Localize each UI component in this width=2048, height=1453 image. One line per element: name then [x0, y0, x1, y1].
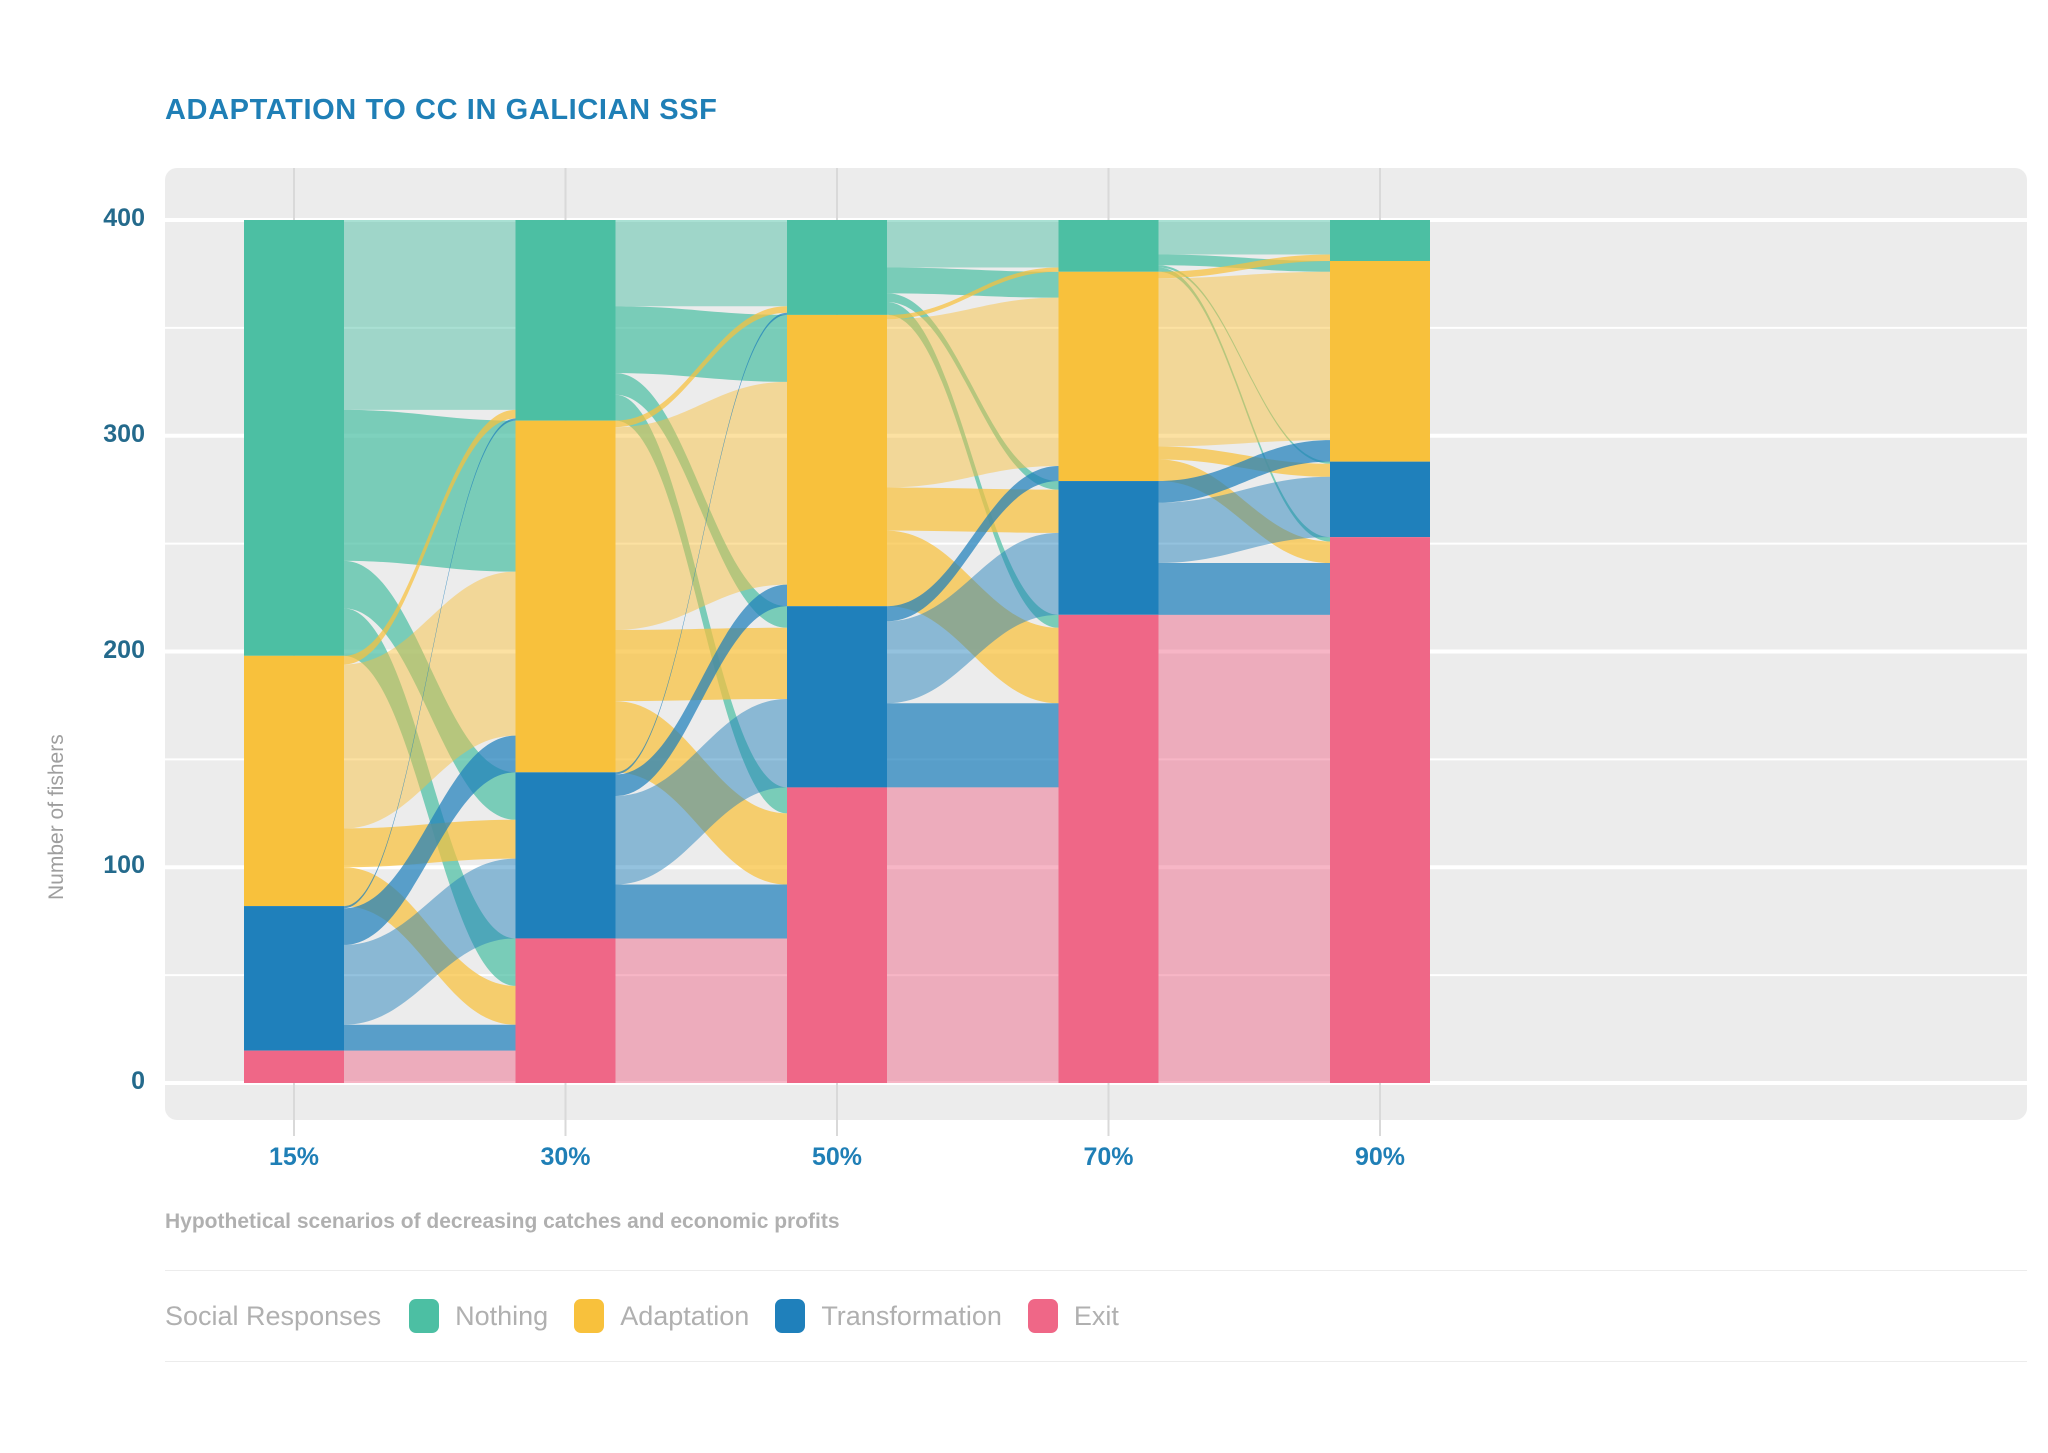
sankey-node[interactable] [516, 421, 616, 773]
sankey-ribbon[interactable] [887, 220, 1059, 267]
x-tick-label: 90% [1310, 1143, 1450, 1172]
sankey-ribbon[interactable] [1159, 563, 1331, 615]
sankey-ribbon[interactable] [887, 298, 1059, 488]
sankey-node[interactable] [1330, 537, 1430, 1083]
legend-label-transformation: Transformation [821, 1301, 1002, 1332]
legend-item-adaptation[interactable]: Adaptation [574, 1299, 749, 1333]
sankey-node[interactable] [1330, 261, 1430, 462]
sankey-node[interactable] [244, 906, 344, 1051]
sankey-node[interactable] [1330, 462, 1430, 538]
x-tick-label: 30% [496, 1143, 636, 1172]
legend-item-transformation[interactable]: Transformation [775, 1299, 1002, 1333]
legend-swatch-transformation [775, 1299, 805, 1333]
sankey-node[interactable] [787, 315, 887, 606]
legend-item-exit[interactable]: Exit [1028, 1299, 1119, 1333]
sankey-ribbon[interactable] [616, 220, 788, 306]
sankey-ribbon[interactable] [887, 787, 1059, 1083]
y-tick-label: 400 [55, 204, 145, 233]
sankey-node[interactable] [244, 220, 344, 656]
sankey-node[interactable] [1059, 481, 1159, 615]
legend-item-nothing[interactable]: Nothing [409, 1299, 548, 1333]
legend-swatch-exit [1028, 1299, 1058, 1333]
sankey-ribbon[interactable] [344, 220, 516, 410]
legend-label-exit: Exit [1074, 1301, 1119, 1332]
legend-swatch-adaptation [574, 1299, 604, 1333]
sankey-node[interactable] [516, 938, 616, 1083]
sankey-ribbon[interactable] [1159, 220, 1331, 255]
sankey-ribbon[interactable] [887, 488, 1059, 533]
legend-swatch-nothing [409, 1299, 439, 1333]
sankey-ribbon[interactable] [1159, 272, 1331, 447]
sankey-node[interactable] [244, 1051, 344, 1083]
sankey-node[interactable] [787, 220, 887, 315]
sankey-node[interactable] [516, 220, 616, 421]
sankey-node[interactable] [787, 787, 887, 1083]
x-tick-label: 50% [767, 1143, 907, 1172]
chart-page: ADAPTATION TO CC IN GALICIAN SSF Number … [0, 0, 2048, 1448]
sankey-node[interactable] [244, 656, 344, 906]
y-tick-label: 100 [55, 851, 145, 880]
sankey-ribbon[interactable] [887, 703, 1059, 787]
x-axis-caption: Hypothetical scenarios of decreasing cat… [165, 1210, 840, 1234]
legend: Social Responses Nothing Adaptation Tran… [165, 1270, 2027, 1362]
sankey-node[interactable] [1330, 220, 1430, 261]
sankey-node[interactable] [516, 772, 616, 938]
y-tick-label: 200 [55, 636, 145, 665]
sankey-node[interactable] [1059, 615, 1159, 1083]
legend-label-adaptation: Adaptation [620, 1301, 749, 1332]
sankey-ribbon[interactable] [344, 410, 516, 572]
x-tick-label: 15% [224, 1143, 364, 1172]
sankey-node[interactable] [1059, 220, 1159, 272]
sankey-ribbon[interactable] [616, 885, 788, 939]
sankey-ribbon[interactable] [616, 938, 788, 1083]
sankey-ribbon[interactable] [344, 1051, 516, 1083]
legend-label-nothing: Nothing [455, 1301, 548, 1332]
y-tick-label: 300 [55, 420, 145, 449]
sankey-node[interactable] [1059, 272, 1159, 481]
sankey-node[interactable] [787, 606, 887, 787]
y-tick-label: 0 [55, 1067, 145, 1096]
sankey-ribbon[interactable] [344, 1025, 516, 1051]
legend-title: Social Responses [165, 1301, 381, 1332]
sankey-ribbon[interactable] [1159, 615, 1331, 1083]
x-tick-label: 70% [1039, 1143, 1179, 1172]
